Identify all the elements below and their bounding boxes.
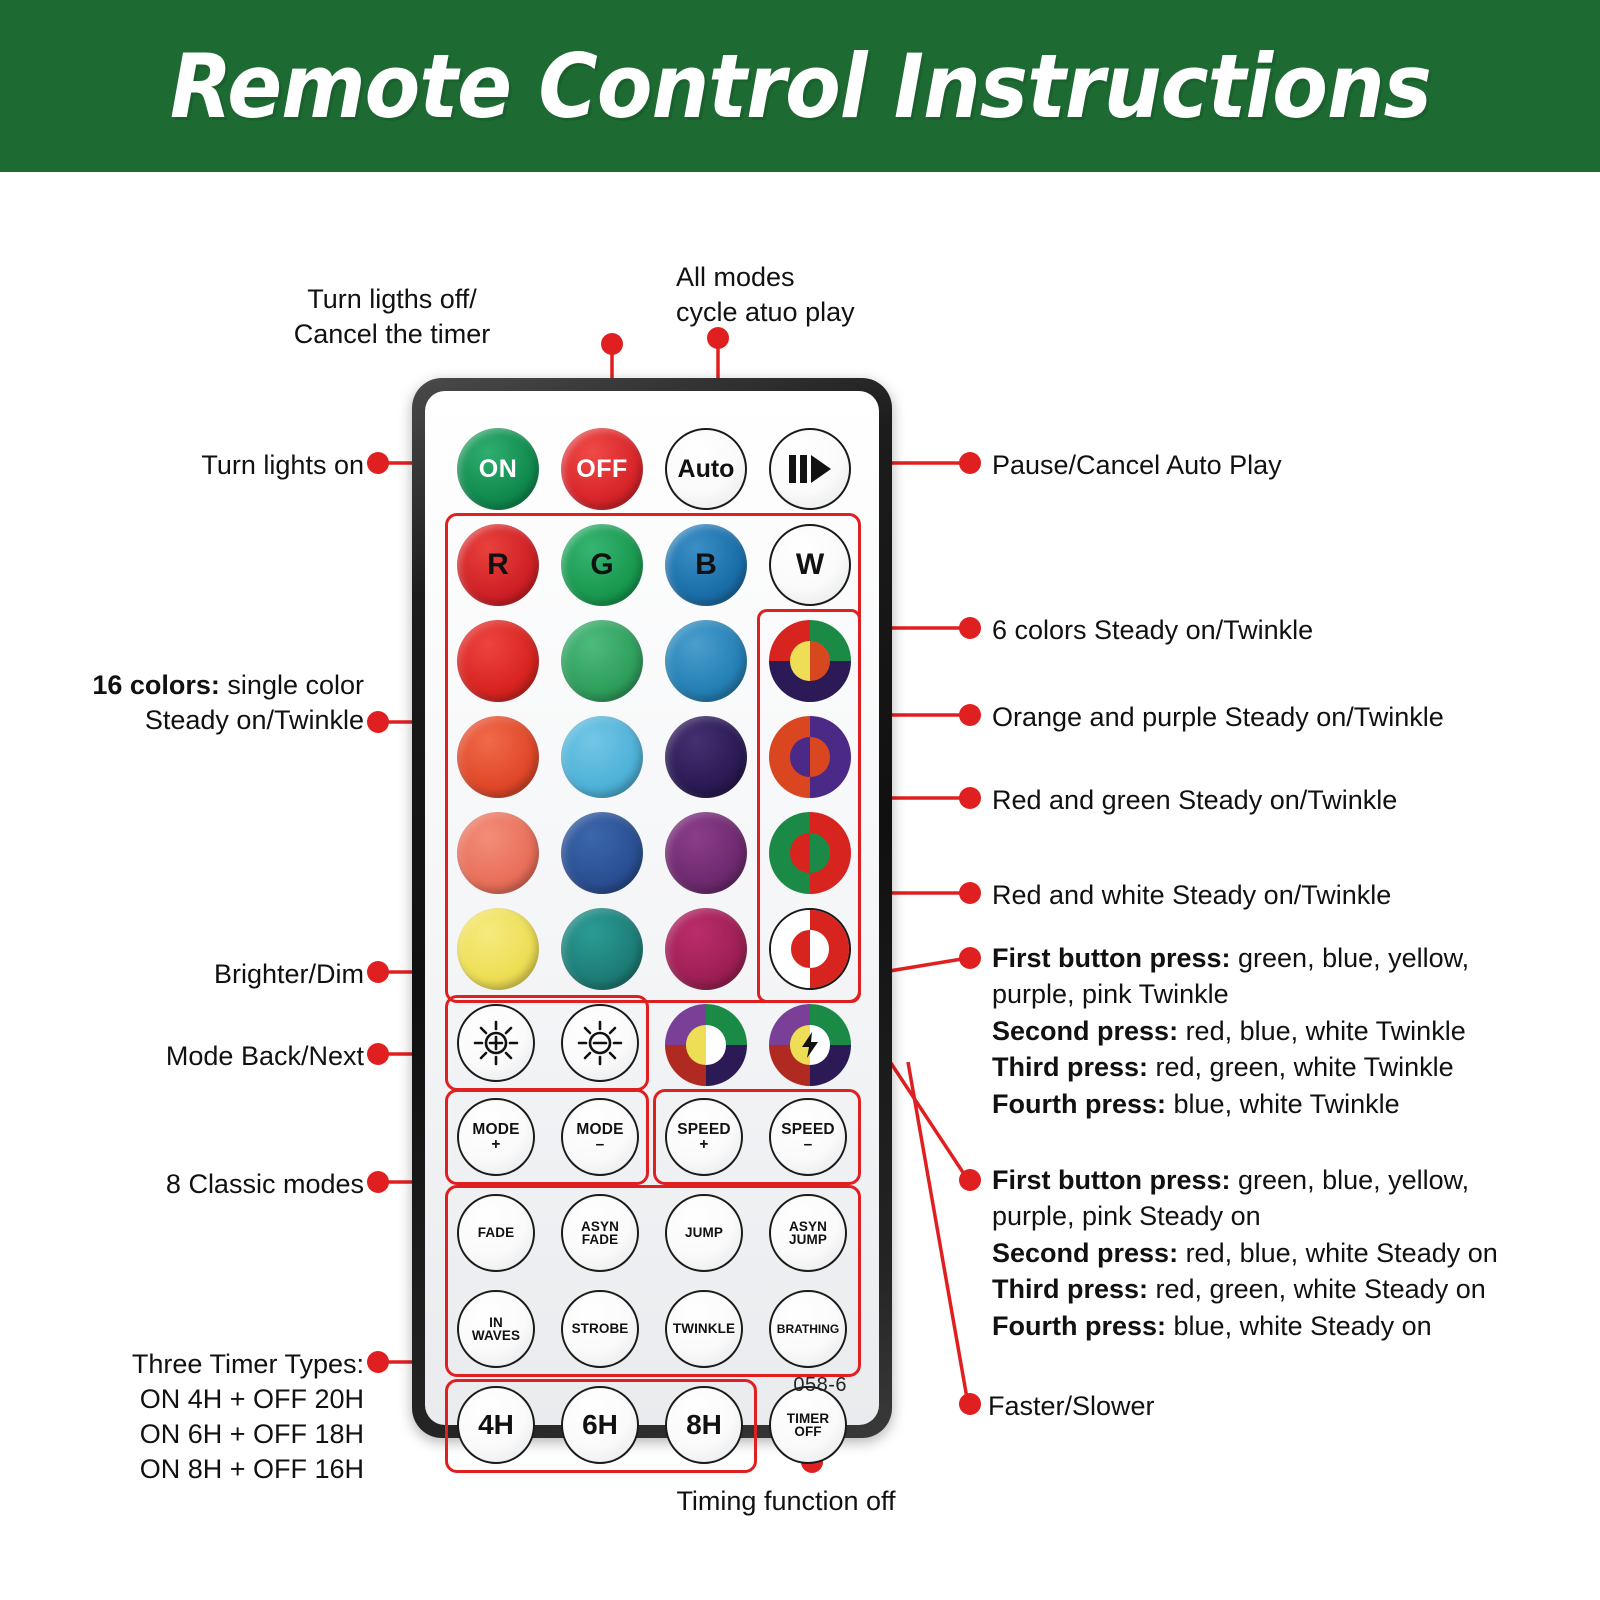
swatch-r1c2[interactable] <box>561 620 643 702</box>
sun-minus-icon <box>575 1018 625 1068</box>
annotation-timer-types: Three Timer Types: ON 4H + OFF 20H ON 6H… <box>0 1347 364 1487</box>
button-strobe-label: STROBE <box>572 1322 629 1336</box>
annotation-twinkle-press-1-bold: First button press: <box>992 943 1231 973</box>
button-asyn-fade-label1: ASYN <box>581 1220 619 1234</box>
button-mode-plus-label: MODE <box>472 1122 519 1138</box>
annotation-twinkle-presses: First button press: green, blue, yellow,… <box>992 940 1469 1122</box>
button-pause-auto-play[interactable] <box>769 428 851 510</box>
button-timer-off[interactable]: TIMER OFF <box>769 1386 847 1464</box>
model-number: 058-6 <box>793 1374 847 1397</box>
button-six-colors[interactable] <box>769 620 851 702</box>
button-off[interactable]: OFF <box>561 428 643 510</box>
annotation-16-colors-line2: Steady on/Twinkle <box>0 703 364 738</box>
button-red-white[interactable] <box>769 908 851 990</box>
button-color-w[interactable]: W <box>769 524 851 606</box>
button-speed-plus-label: SPEED <box>677 1122 731 1138</box>
annotation-faster-slower-line1: Faster/Slower <box>988 1389 1155 1424</box>
lightning-bolt-icon <box>769 1004 851 1086</box>
annotation-steady-press-2-rest: red, blue, white Steady on <box>1178 1238 1498 1268</box>
annotation-six-colors: 6 colors Steady on/Twinkle <box>992 613 1313 648</box>
annotation-16-colors-bold: 16 colors: <box>92 670 220 700</box>
swatch-r2c1[interactable] <box>457 716 539 798</box>
annotation-steady-press-3-bold: Third press: <box>992 1274 1148 1304</box>
button-mode-minus-sign: – <box>596 1137 605 1153</box>
annotation-twinkle-press-2: Second press: red, blue, white Twinkle <box>992 1013 1469 1049</box>
swatch-r1c1[interactable] <box>457 620 539 702</box>
annotation-16-colors-rest: single color <box>220 670 364 700</box>
annotation-faster-slower: Faster/Slower <box>988 1389 1155 1424</box>
button-timer-4h[interactable]: 4H <box>457 1386 535 1464</box>
annotation-mode-back-next-line1: Mode Back/Next <box>0 1039 364 1074</box>
annotation-16-colors-line1: 16 colors: single color <box>0 668 364 703</box>
annotation-red-white-line1: Red and white Steady on/Twinkle <box>992 878 1391 913</box>
button-jump[interactable]: JUMP <box>665 1194 743 1272</box>
annotation-orange-purple: Orange and purple Steady on/Twinkle <box>992 700 1444 735</box>
remote-control-body: ON OFF Auto R G B W <box>412 378 892 1438</box>
button-steady-multi[interactable] <box>769 1004 851 1086</box>
annotation-turn-lights-off-line1: Turn ligths off/ <box>128 282 656 317</box>
button-timer-6h[interactable]: 6H <box>561 1386 639 1464</box>
button-twinkle-multi[interactable] <box>665 1004 747 1086</box>
annotation-turn-lights-off-line2: Cancel the timer <box>128 317 656 352</box>
button-color-b-label: B <box>695 550 717 580</box>
button-in-waves-label2: WAVES <box>472 1329 520 1343</box>
remote-face: ON OFF Auto R G B W <box>425 391 879 1425</box>
button-asyn-jump-label2: JUMP <box>789 1233 827 1247</box>
button-color-w-label: W <box>796 550 824 580</box>
annotation-steady-press-4-bold: Fourth press: <box>992 1311 1166 1341</box>
swatch-r3c3[interactable] <box>665 812 747 894</box>
pause-play-icon <box>787 452 833 486</box>
button-color-r[interactable]: R <box>457 524 539 606</box>
button-auto-label: Auto <box>678 457 735 482</box>
button-jump-label: JUMP <box>685 1226 723 1240</box>
annotation-twinkle-press-1b: purple, pink Twinkle <box>992 976 1469 1012</box>
annotation-brighter-dim-line1: Brighter/Dim <box>0 957 364 992</box>
button-mode-plus-sign: + <box>491 1137 500 1153</box>
annotation-pause-cancel-line1: Pause/Cancel Auto Play <box>992 448 1282 483</box>
annotation-turn-lights-on: Turn lights on <box>0 448 364 483</box>
annotation-turn-lights-on-line1: Turn lights on <box>0 448 364 483</box>
swatch-r4c3[interactable] <box>665 908 747 990</box>
button-twinkle-label: TWINKLE <box>673 1322 735 1336</box>
annotation-mode-back-next: Mode Back/Next <box>0 1039 364 1074</box>
annotation-red-white: Red and white Steady on/Twinkle <box>992 878 1391 913</box>
button-speed-plus-sign: + <box>699 1137 708 1153</box>
annotation-steady-press-1: First button press: green, blue, yellow, <box>992 1162 1498 1198</box>
button-dimmer[interactable] <box>561 1004 639 1082</box>
button-fade-label: FADE <box>478 1226 514 1240</box>
annotation-twinkle-press-4-bold: Fourth press: <box>992 1089 1166 1119</box>
button-in-waves-label1: IN <box>489 1316 503 1330</box>
annotation-steady-press-1-rest: green, blue, yellow, <box>1231 1165 1470 1195</box>
button-strobe[interactable]: STROBE <box>561 1290 639 1368</box>
annotation-brighter-dim: Brighter/Dim <box>0 957 364 992</box>
annotation-red-green-line1: Red and green Steady on/Twinkle <box>992 783 1397 818</box>
annotation-timer-types-line1: Three Timer Types: <box>0 1347 364 1382</box>
button-speed-minus[interactable]: SPEED – <box>769 1098 847 1176</box>
annotation-twinkle-press-2-rest: red, blue, white Twinkle <box>1178 1016 1466 1046</box>
annotation-twinkle-press-2-bold: Second press: <box>992 1016 1178 1046</box>
button-timer-off-label2: OFF <box>794 1425 821 1439</box>
button-asyn-jump-label1: ASYN <box>789 1220 827 1234</box>
button-asyn-fade-label2: FADE <box>582 1233 618 1247</box>
annotation-timer-types-line4: ON 8H + OFF 16H <box>0 1452 364 1487</box>
button-timer-off-label1: TIMER <box>787 1412 830 1426</box>
swatch-r3c1[interactable] <box>457 812 539 894</box>
annotation-twinkle-press-4: Fourth press: blue, white Twinkle <box>992 1086 1469 1122</box>
swatch-r4c2[interactable] <box>561 908 643 990</box>
button-on-label: ON <box>479 457 518 482</box>
button-timer-8h[interactable]: 8H <box>665 1386 743 1464</box>
annotation-steady-press-3: Third press: red, green, white Steady on <box>992 1271 1498 1307</box>
annotation-turn-lights-off: Turn ligths off/ Cancel the timer <box>128 282 656 352</box>
annotation-twinkle-press-1-rest: green, blue, yellow, <box>1231 943 1470 973</box>
swatch-r3c2[interactable] <box>561 812 643 894</box>
button-timer-8h-label: 8H <box>686 1411 722 1439</box>
annotation-timer-types-line3: ON 6H + OFF 18H <box>0 1417 364 1452</box>
button-timer-6h-label: 6H <box>582 1411 618 1439</box>
button-asyn-jump[interactable]: ASYN JUMP <box>769 1194 847 1272</box>
button-speed-plus[interactable]: SPEED + <box>665 1098 743 1176</box>
button-orange-purple[interactable] <box>769 716 851 798</box>
button-fade[interactable]: FADE <box>457 1194 535 1272</box>
annotation-steady-press-2-bold: Second press: <box>992 1238 1178 1268</box>
annotation-twinkle-press-3-rest: red, green, white Twinkle <box>1148 1052 1454 1082</box>
button-asyn-fade[interactable]: ASYN FADE <box>561 1194 639 1272</box>
button-auto[interactable]: Auto <box>665 428 747 510</box>
button-in-waves[interactable]: IN WAVES <box>457 1290 535 1368</box>
annotation-steady-presses: First button press: green, blue, yellow,… <box>992 1162 1498 1344</box>
button-color-r-label: R <box>487 550 509 580</box>
header-banner: Remote Control Instructions <box>0 0 1600 172</box>
button-color-g-label: G <box>590 550 613 580</box>
annotation-16-colors: 16 colors: single color Steady on/Twinkl… <box>0 668 364 738</box>
button-speed-minus-sign: – <box>804 1137 813 1153</box>
swatch-r1c3[interactable] <box>665 620 747 702</box>
button-mode-plus[interactable]: MODE + <box>457 1098 535 1176</box>
annotation-timing-off-line1: Timing function off <box>676 1484 895 1519</box>
annotation-pause-cancel: Pause/Cancel Auto Play <box>992 448 1282 483</box>
sun-plus-icon <box>471 1018 521 1068</box>
annotation-all-modes: All modes cycle atuo play <box>676 260 855 330</box>
annotation-timing-off: Timing function off <box>676 1484 895 1519</box>
button-on[interactable]: ON <box>457 428 539 510</box>
annotation-steady-press-2: Second press: red, blue, white Steady on <box>992 1235 1498 1271</box>
annotation-all-modes-line1: All modes <box>676 260 855 295</box>
button-brathing-label: BRATHING <box>777 1323 839 1335</box>
annotation-twinkle-press-3-bold: Third press: <box>992 1052 1148 1082</box>
annotation-twinkle-press-3: Third press: red, green, white Twinkle <box>992 1049 1469 1085</box>
annotation-red-green: Red and green Steady on/Twinkle <box>992 783 1397 818</box>
page-title: Remote Control Instructions <box>169 35 1430 138</box>
annotation-steady-press-1b: purple, pink Steady on <box>992 1198 1498 1234</box>
swatch-r2c3[interactable] <box>665 716 747 798</box>
annotation-orange-purple-line1: Orange and purple Steady on/Twinkle <box>992 700 1444 735</box>
annotation-classic-modes-line1: 8 Classic modes <box>0 1167 364 1202</box>
button-brighter[interactable] <box>457 1004 535 1082</box>
annotation-twinkle-press-1: First button press: green, blue, yellow, <box>992 940 1469 976</box>
annotation-timer-types-line2: ON 4H + OFF 20H <box>0 1382 364 1417</box>
swatch-r2c2[interactable] <box>561 716 643 798</box>
annotation-steady-press-1-bold: First button press: <box>992 1165 1231 1195</box>
annotation-steady-press-4-rest: blue, white Steady on <box>1166 1311 1432 1341</box>
annotation-twinkle-press-4-rest: blue, white Twinkle <box>1166 1089 1400 1119</box>
button-red-green[interactable] <box>769 812 851 894</box>
annotation-all-modes-line2: cycle atuo play <box>676 295 855 330</box>
button-speed-minus-label: SPEED <box>781 1122 835 1138</box>
annotation-steady-press-3-rest: red, green, white Steady on <box>1148 1274 1486 1304</box>
button-timer-4h-label: 4H <box>478 1411 514 1439</box>
button-twinkle[interactable]: TWINKLE <box>665 1290 743 1368</box>
button-color-b[interactable]: B <box>665 524 747 606</box>
button-color-g[interactable]: G <box>561 524 643 606</box>
annotation-classic-modes: 8 Classic modes <box>0 1167 364 1202</box>
annotation-six-colors-line1: 6 colors Steady on/Twinkle <box>992 613 1313 648</box>
button-off-label: OFF <box>576 457 628 482</box>
annotation-steady-press-4: Fourth press: blue, white Steady on <box>992 1308 1498 1344</box>
button-mode-minus-label: MODE <box>576 1122 623 1138</box>
button-brathing[interactable]: BRATHING <box>769 1290 847 1368</box>
button-mode-minus[interactable]: MODE – <box>561 1098 639 1176</box>
swatch-r4c1[interactable] <box>457 908 539 990</box>
